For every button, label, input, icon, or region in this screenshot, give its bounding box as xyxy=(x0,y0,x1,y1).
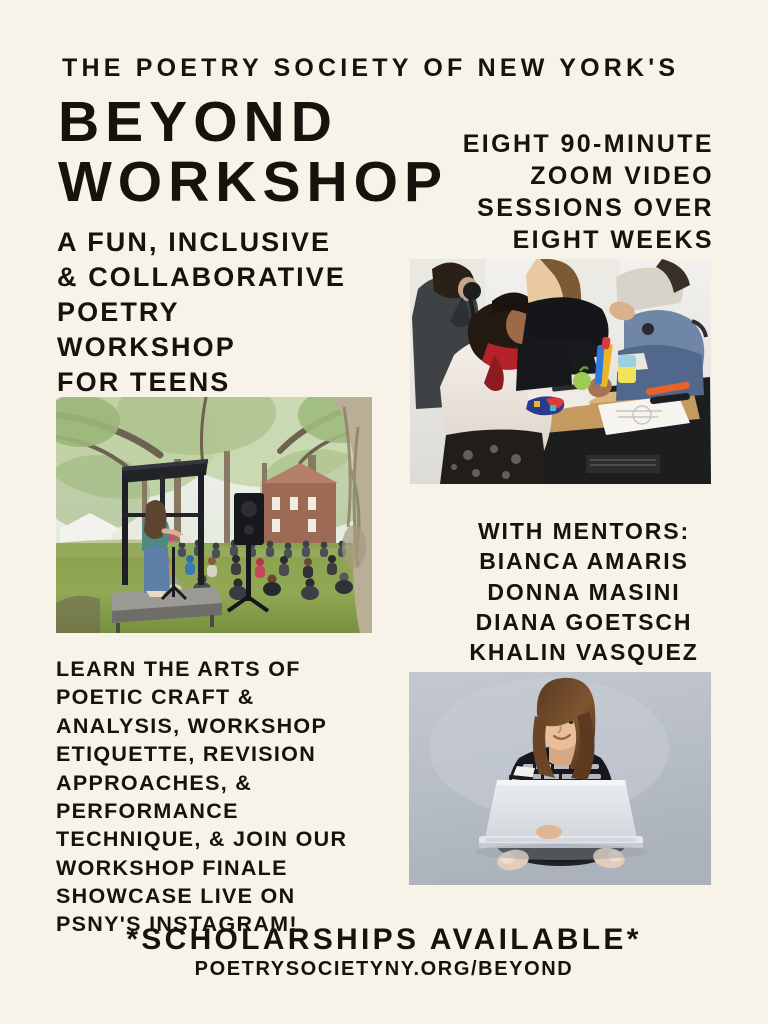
scholarships-note: *SCHOLARSHIPS AVAILABLE* xyxy=(0,923,768,957)
photo-workshop-table xyxy=(410,259,711,484)
subhead-line-1: A FUN, INCLUSIVE xyxy=(57,225,346,260)
learn-line-7: TECHNIQUE, & JOIN OUR xyxy=(56,825,386,853)
headline-line-2: WORKSHOP xyxy=(58,152,448,212)
learn-line-6: PERFORMANCE xyxy=(56,797,386,825)
learn-line-4: ETIQUETTE, REVISION xyxy=(56,740,386,768)
mentor-name-2: DONNA MASINI xyxy=(452,577,716,607)
sessions-line-4: EIGHT WEEKS xyxy=(463,224,714,256)
poster-canvas: THE POETRY SOCIETY OF NEW YORK'S BEYOND … xyxy=(0,0,768,1024)
subhead-line-3: POETRY xyxy=(57,295,346,330)
mentor-name-1: BIANCA AMARIS xyxy=(452,546,716,576)
photo-outdoor-stage xyxy=(56,397,372,633)
mentor-list: WITH MENTORS: BIANCA AMARIS DONNA MASINI… xyxy=(452,516,716,668)
headline-line-1: BEYOND xyxy=(58,92,448,152)
program-description: A FUN, INCLUSIVE & COLLABORATIVE POETRY … xyxy=(57,225,346,400)
sessions-line-3: SESSIONS OVER xyxy=(463,192,714,224)
organization-kicker: THE POETRY SOCIETY OF NEW YORK'S xyxy=(62,55,679,83)
photo-laptop-student xyxy=(409,672,711,885)
learn-line-2: POETIC CRAFT & xyxy=(56,683,386,711)
learn-line-3: ANALYSIS, WORKSHOP xyxy=(56,712,386,740)
mentor-name-3: DIANA GOETSCH xyxy=(452,607,716,637)
subhead-line-5: FOR TEENS xyxy=(57,365,346,400)
session-details: EIGHT 90-MINUTE ZOOM VIDEO SESSIONS OVER… xyxy=(463,128,714,256)
page-title: BEYOND WORKSHOP xyxy=(58,92,448,213)
subhead-line-4: WORKSHOP xyxy=(57,330,346,365)
subhead-line-2: & COLLABORATIVE xyxy=(57,260,346,295)
learn-line-8: WORKSHOP FINALE xyxy=(56,854,386,882)
learn-line-9: SHOWCASE LIVE ON xyxy=(56,882,386,910)
mentors-heading: WITH MENTORS: xyxy=(452,516,716,546)
sessions-line-2: ZOOM VIDEO xyxy=(463,160,714,192)
website-url[interactable]: POETRYSOCIETYNY.ORG/BEYOND xyxy=(0,958,768,981)
sessions-line-1: EIGHT 90-MINUTE xyxy=(463,128,714,160)
mentor-name-4: KHALIN VASQUEZ xyxy=(452,637,716,667)
learn-line-5: APPROACHES, & xyxy=(56,769,386,797)
curriculum-description: LEARN THE ARTS OF POETIC CRAFT & ANALYSI… xyxy=(56,655,386,939)
learn-line-1: LEARN THE ARTS OF xyxy=(56,655,386,683)
